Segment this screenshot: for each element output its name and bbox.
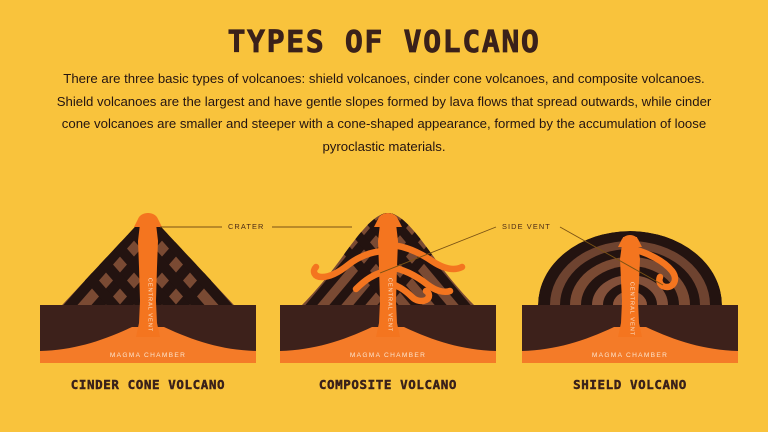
central-vent-label: CENTRAL VENT xyxy=(387,278,393,332)
central-vent-label: CENTRAL VENT xyxy=(629,282,635,336)
volcano-diagrams: CENTRAL VENT MAGMA CHAMBER CINDER CONE V… xyxy=(0,205,768,405)
shield-illustration: CENTRAL VENT MAGMA CHAMBER xyxy=(510,205,750,380)
caption-composite: COMPOSITE VOLCANO xyxy=(268,377,508,392)
infographic-poster: TYPES OF VOLCANO There are three basic t… xyxy=(0,0,768,432)
cinder-cone-illustration: CENTRAL VENT MAGMA CHAMBER xyxy=(28,205,268,380)
volcano-cinder-cone[interactable]: CENTRAL VENT MAGMA CHAMBER CINDER CONE V… xyxy=(28,205,268,405)
volcano-shield[interactable]: CENTRAL VENT MAGMA CHAMBER SHIELD VOLCAN… xyxy=(510,205,750,405)
caption-shield: SHIELD VOLCANO xyxy=(510,377,750,392)
composite-illustration: CENTRAL VENT MAGMA CHAMBER xyxy=(268,205,508,380)
crater-lava xyxy=(374,213,402,227)
intro-paragraph: There are three basic types of volcanoes… xyxy=(52,68,716,159)
magma-chamber-label: MAGMA CHAMBER xyxy=(592,352,668,359)
page-title: TYPES OF VOLCANO xyxy=(0,25,768,60)
crater-lava xyxy=(134,213,162,227)
volcano-composite[interactable]: CENTRAL VENT MAGMA CHAMBER COMPOSITE VOL… xyxy=(268,205,508,405)
magma-chamber-label: MAGMA CHAMBER xyxy=(350,352,426,359)
central-vent-label: CENTRAL VENT xyxy=(147,278,153,332)
caption-cinder-cone: CINDER CONE VOLCANO xyxy=(28,377,268,392)
magma-chamber-label: MAGMA CHAMBER xyxy=(110,352,186,359)
